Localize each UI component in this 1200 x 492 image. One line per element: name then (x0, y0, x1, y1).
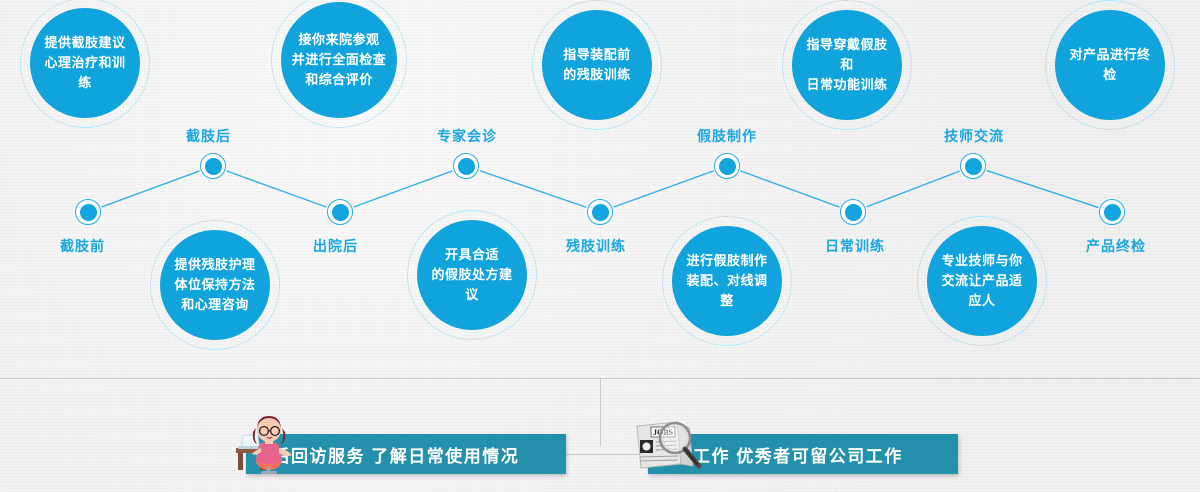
bubble-b3[interactable]: 指导装配前 的残肢训练 (542, 10, 652, 120)
connector-segment-1 (227, 171, 326, 207)
banner-connector-left (566, 454, 602, 455)
bubble-b9[interactable]: 专业技师与你 交流让产品适应人 (927, 226, 1037, 336)
woman-at-desk-icon (234, 412, 296, 474)
timeline-node-n5[interactable] (587, 199, 613, 225)
connector-segment-2 (354, 171, 452, 207)
bubble-text: 提供残肢护理 体位保持方法 和心理咨询 (166, 255, 263, 315)
timeline-node-n6[interactable] (714, 153, 740, 179)
timeline-node-n3[interactable] (327, 199, 353, 225)
connector-segment-6 (867, 171, 959, 206)
timeline-node-label-n1: 截肢前 (60, 236, 105, 256)
connector-segment-4 (614, 171, 713, 207)
bubble-text: 接你来院参观 并进行全面检查 和综合评价 (284, 30, 395, 90)
timeline-node-label-n6: 假肢制作 (697, 126, 757, 146)
timeline-node-label-n7: 日常训练 (825, 236, 885, 256)
connector-segment-3 (480, 171, 586, 207)
bubble-text: 指导装配前 的残肢训练 (555, 45, 639, 85)
timeline-node-n4[interactable] (453, 153, 479, 179)
bubble-b7[interactable]: 开具合适 的假肢处方建议 (417, 220, 527, 330)
bubble-b2[interactable]: 接你来院参观 并进行全面检查 和综合评价 (281, 2, 397, 118)
infographic-stage: 提供截肢建议 心理治疗和训练接你来院参观 并进行全面检查 和综合评价指导装配前 … (0, 0, 1200, 492)
bubble-text: 对产品进行终检 (1055, 45, 1165, 85)
bubble-text: 提供截肢建议 心理治疗和训练 (30, 33, 140, 93)
timeline-node-label-n4: 专家会诊 (437, 126, 497, 146)
bubble-b4[interactable]: 指导穿戴假肢和 日常功能训练 (792, 10, 902, 120)
connector-segment-7 (987, 171, 1098, 208)
timeline-node-n9[interactable] (1099, 199, 1125, 225)
timeline-node-n7[interactable] (840, 199, 866, 225)
timeline-node-label-n5: 残肢训练 (566, 236, 626, 256)
section-divider-vertical (600, 378, 601, 446)
bubble-text: 开具合适 的假肢处方建议 (417, 245, 527, 305)
timeline-node-n2[interactable] (200, 153, 226, 179)
timeline-node-label-n9: 产品终检 (1086, 236, 1146, 256)
bubble-text: 进行假肢制作 装配、对线调整 (672, 251, 782, 311)
timeline-node-n8[interactable] (960, 153, 986, 179)
timeline-node-label-n8: 技师交流 (944, 126, 1004, 146)
connector-segment-0 (102, 171, 199, 207)
bubble-text: 专业技师与你 交流让产品适应人 (927, 251, 1037, 311)
bubble-b8[interactable]: 进行假肢制作 装配、对线调整 (672, 226, 782, 336)
jobs-newspaper-magnifier-icon: JOBS (633, 414, 705, 474)
bubble-b6[interactable]: 提供残肢护理 体位保持方法 和心理咨询 (160, 230, 270, 340)
bubble-b5[interactable]: 对产品进行终检 (1055, 10, 1165, 120)
bubble-text: 指导穿戴假肢和 日常功能训练 (792, 35, 902, 95)
bubble-b1[interactable]: 提供截肢建议 心理治疗和训练 (30, 8, 140, 118)
timeline-node-label-n2: 截肢后 (186, 126, 231, 146)
timeline-node-label-n3: 出院后 (313, 236, 358, 256)
connector-segment-5 (741, 171, 839, 207)
timeline-node-n1[interactable] (75, 199, 101, 225)
